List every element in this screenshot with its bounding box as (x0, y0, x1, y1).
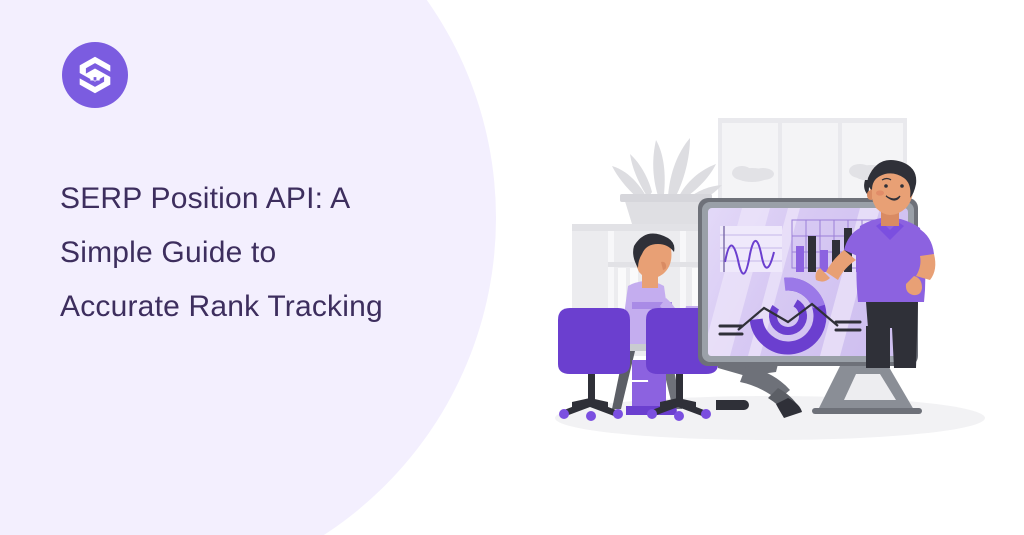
brand-logo[interactable] (62, 42, 128, 108)
page-title: SERP Position API: A Simple Guide to Acc… (60, 172, 390, 334)
monitor-stand (812, 362, 922, 414)
wave-chart (720, 226, 782, 274)
hexagon-s-house-icon (74, 54, 116, 96)
office-presentation-illustration (520, 30, 990, 500)
banner-root: SERP Position API: A Simple Guide to Acc… (0, 0, 1024, 535)
